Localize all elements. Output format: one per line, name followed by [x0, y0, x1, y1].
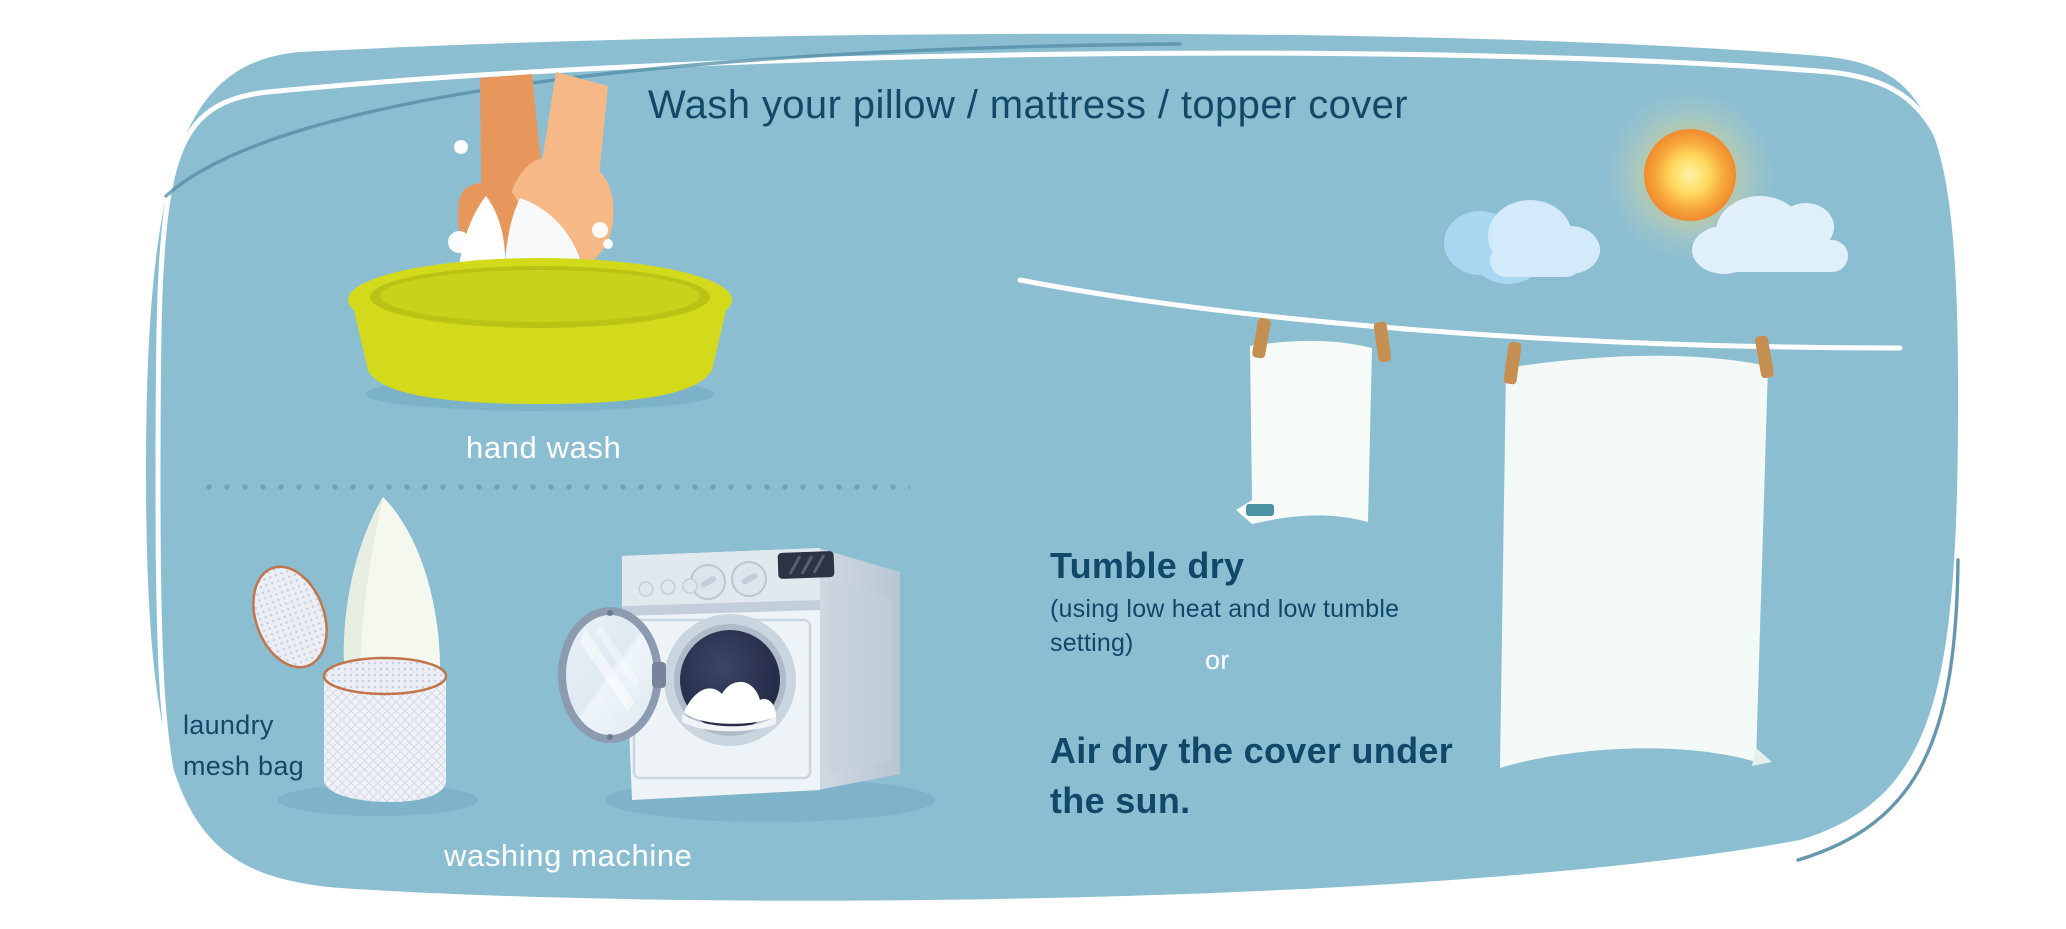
or-separator-text: or [1205, 645, 1230, 676]
card-background [0, 0, 2066, 929]
tumble-dry-heading: Tumble dry [1050, 545, 1244, 587]
machine-indicator-icon [639, 579, 697, 596]
machine-display [778, 551, 835, 579]
label-hand-wash: hand wash [466, 430, 621, 466]
mesh-bag-label-line1: laundry [183, 710, 274, 740]
hanging-sheet-icon [1236, 341, 1372, 524]
hanging-sheet-icon [1500, 356, 1772, 768]
label-washing-machine: washing machine [444, 838, 693, 874]
mesh-bag-label-line2: mesh bag [183, 751, 304, 781]
label-laundry-mesh-bag: laundry mesh bag [183, 705, 304, 787]
page-title: Wash your pillow / mattress / topper cov… [648, 83, 1408, 128]
infographic-canvas: Wash your pillow / mattress / topper cov… [0, 0, 2066, 929]
air-dry-instruction: Air dry the cover under the sun. [1050, 726, 1453, 826]
section-divider [200, 484, 910, 490]
